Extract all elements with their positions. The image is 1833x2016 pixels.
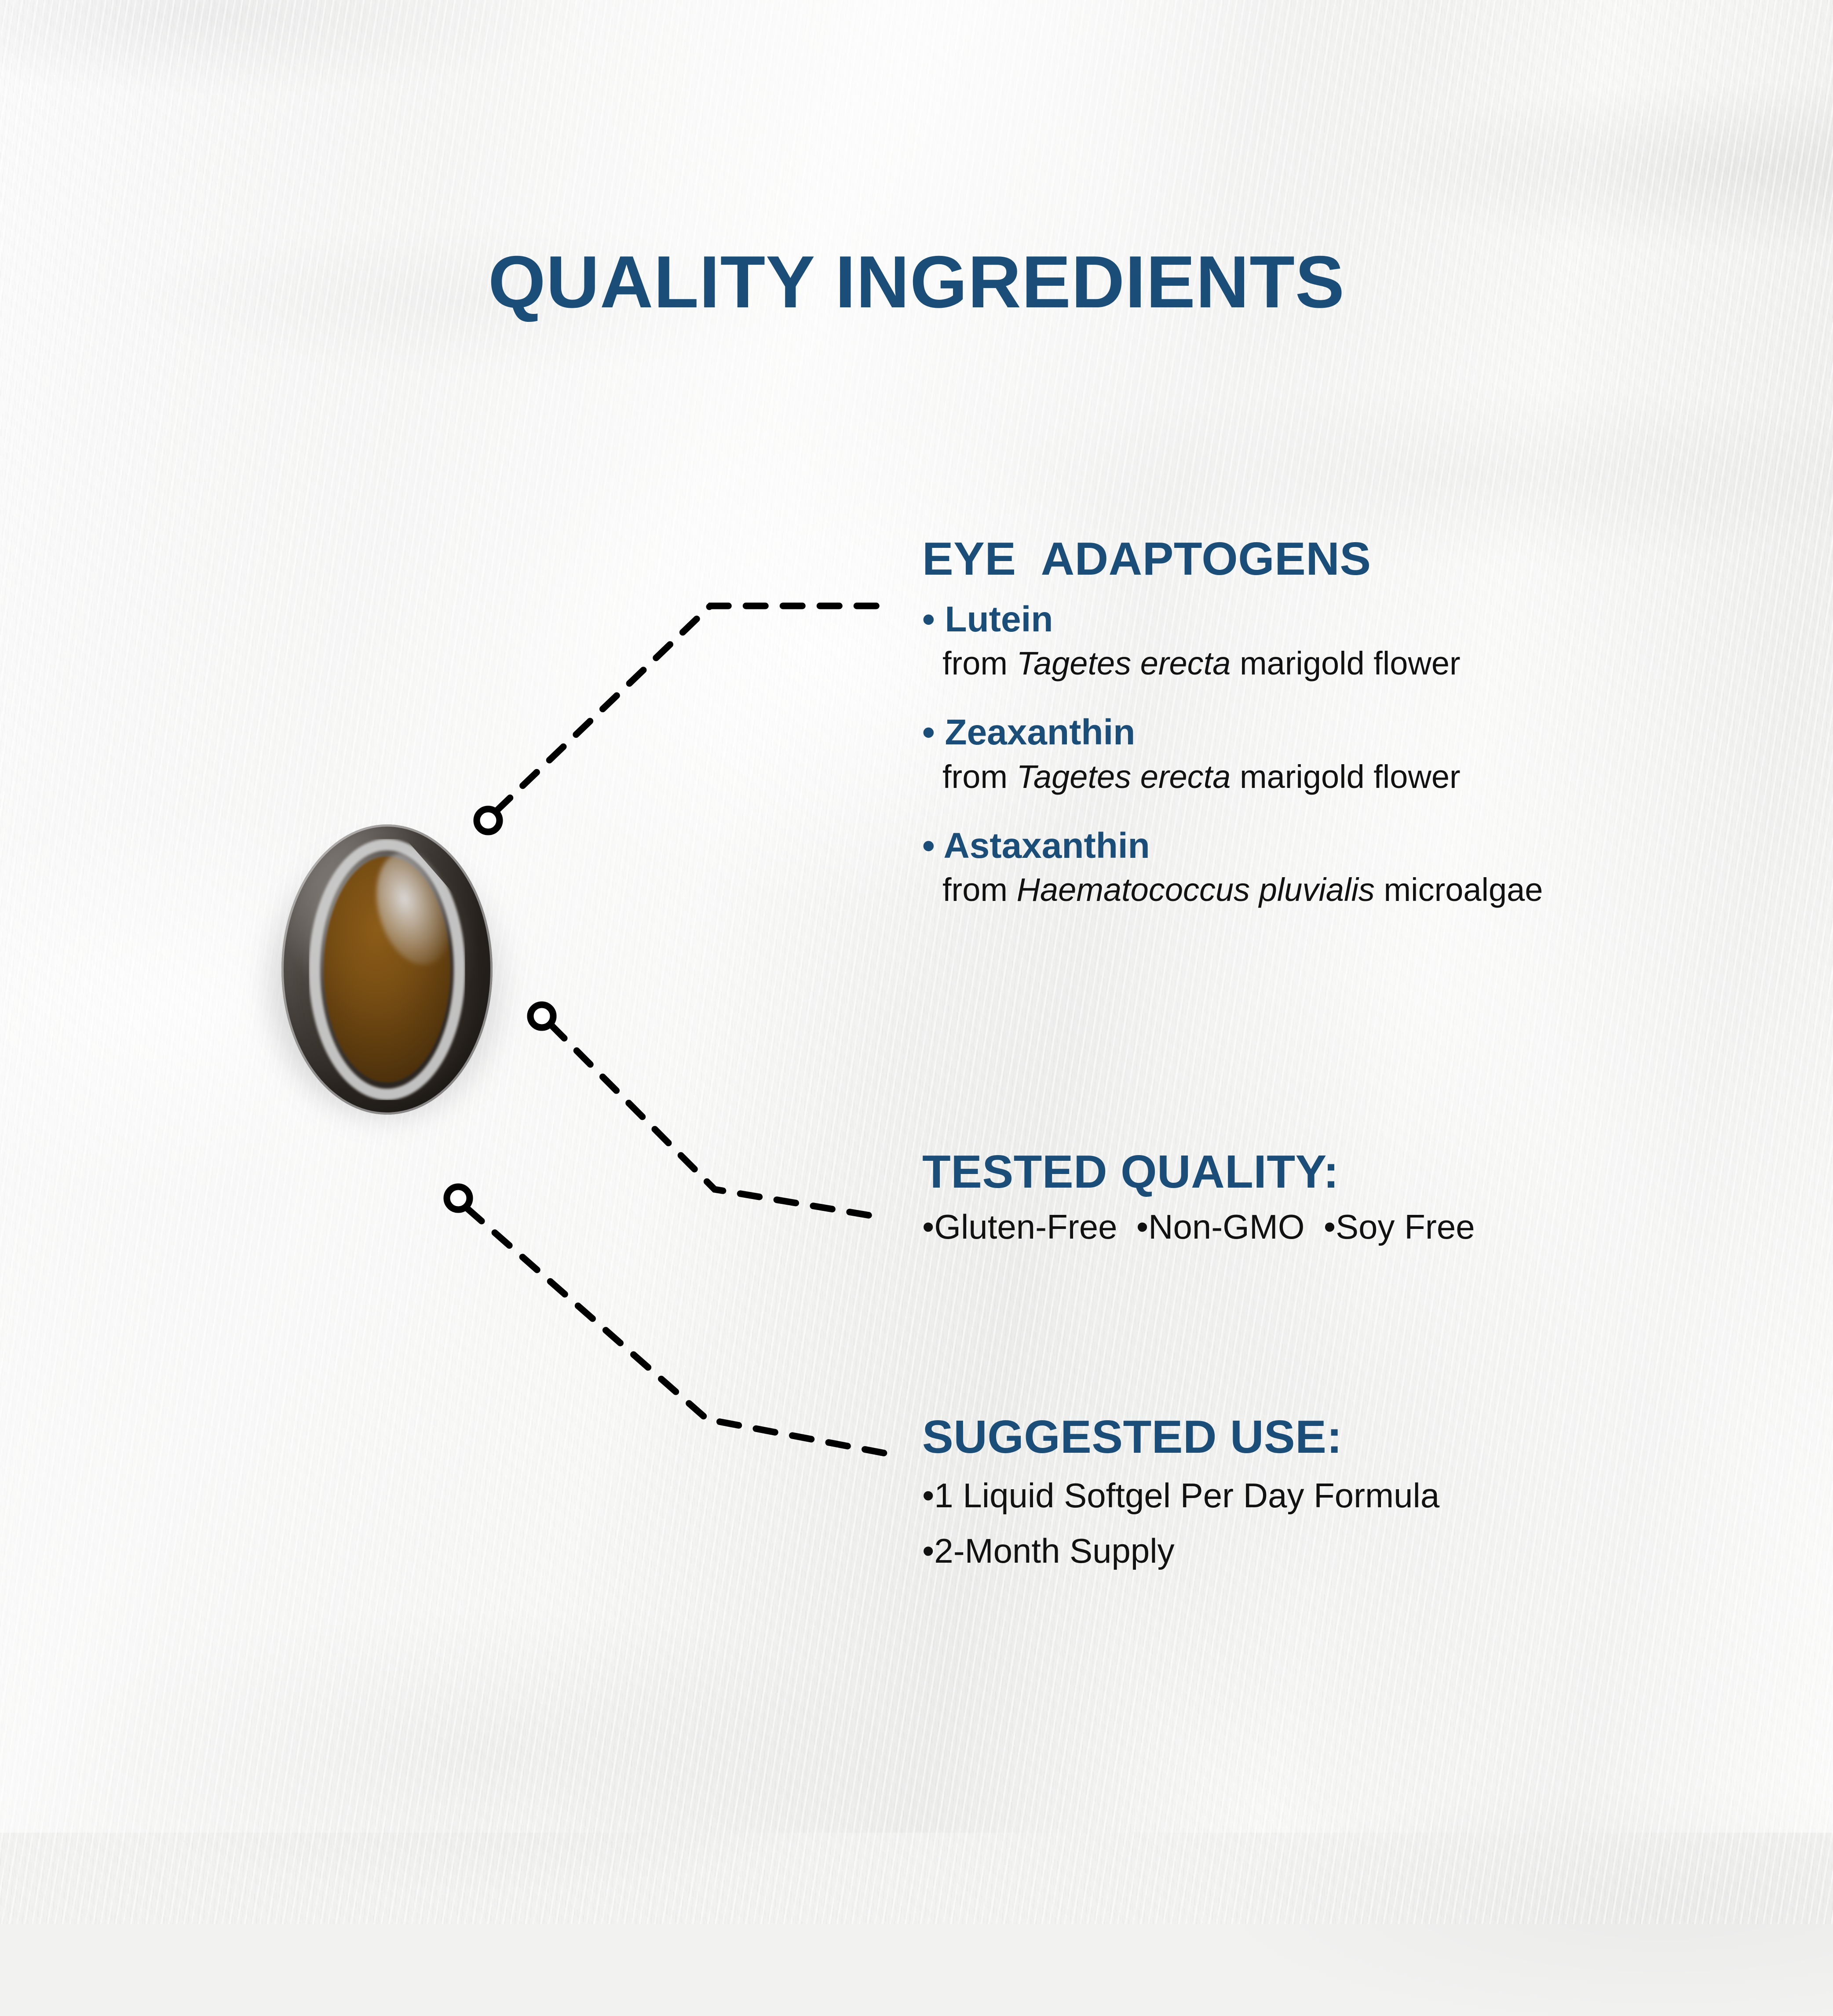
ingredient-source: from Tagetes erecta marigold flower <box>942 759 1543 795</box>
section-eye-adaptogens: EYE ADAPTOGENS • Lutein from Tagetes ere… <box>922 536 1543 908</box>
section-heading-eye-adaptogens: EYE ADAPTOGENS <box>922 536 1543 582</box>
section-tested-quality: TESTED QUALITY: •Gluten-Free •Non-GMO •S… <box>922 1148 1475 1247</box>
ingredient-name: • Zeaxanthin <box>922 714 1543 751</box>
section-suggested-use: SUGGESTED USE: •1 Liquid Softgel Per Day… <box>922 1414 1439 1571</box>
claims-line: •Gluten-Free •Non-GMO •Soy Free <box>922 1207 1475 1247</box>
leader-line-suggested-use <box>467 1208 885 1453</box>
ingredient-name: • Astaxanthin <box>922 827 1543 865</box>
source-species: Haematococcus pluvialis <box>1017 871 1375 908</box>
ingredient-name: • Lutein <box>922 601 1543 638</box>
page-title: QUALITY INGREDIENTS <box>0 240 1833 324</box>
section-heading-tested-quality: TESTED QUALITY: <box>922 1148 1475 1195</box>
callout-dot-tested-quality[interactable] <box>530 1005 553 1028</box>
suggested-use-item: •1 Liquid Softgel Per Day Formula <box>922 1475 1439 1516</box>
source-prefix: from <box>942 758 1017 795</box>
callout-dot-eye-adaptogens[interactable] <box>477 809 500 832</box>
tested-quality-claims: •Gluten-Free •Non-GMO •Soy Free <box>922 1207 1475 1247</box>
source-suffix: microalgae <box>1375 871 1543 908</box>
ingredient-item: • Lutein from Tagetes erecta marigold fl… <box>922 601 1543 681</box>
suggested-use-list: •1 Liquid Softgel Per Day Formula •2-Mon… <box>922 1475 1439 1571</box>
ingredient-source: from Haematococcus pluvialis microalgae <box>942 872 1543 908</box>
leader-line-eye-adaptogens <box>496 606 885 811</box>
source-suffix: marigold flower <box>1231 758 1460 795</box>
source-species: Tagetes erecta <box>1017 758 1231 795</box>
callout-dot-suggested-use[interactable] <box>447 1187 470 1210</box>
source-species: Tagetes erecta <box>1017 645 1231 682</box>
section-heading-suggested-use: SUGGESTED USE: <box>922 1414 1439 1460</box>
ingredient-item: • Zeaxanthin from Tagetes erecta marigol… <box>922 714 1543 794</box>
source-prefix: from <box>942 871 1017 908</box>
source-prefix: from <box>942 645 1017 682</box>
ingredient-source: from Tagetes erecta marigold flower <box>942 645 1543 681</box>
leader-line-tested-quality <box>551 1024 885 1218</box>
source-suffix: marigold flower <box>1231 645 1460 682</box>
suggested-use-item: •2-Month Supply <box>922 1531 1439 1571</box>
ingredient-item: • Astaxanthin from Haematococcus pluvial… <box>922 827 1543 908</box>
